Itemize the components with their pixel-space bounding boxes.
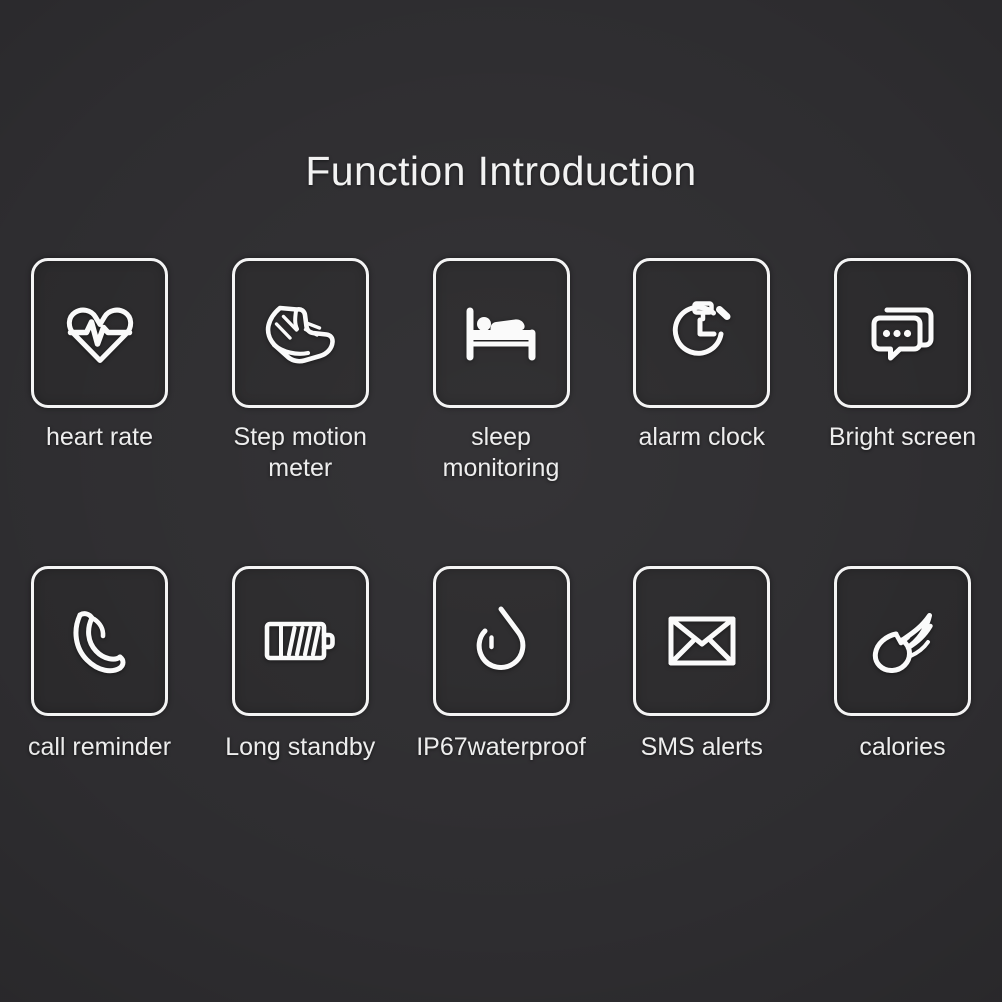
feature-label: SMS alerts <box>597 732 807 763</box>
feature-label: call reminder <box>0 732 205 763</box>
chat-bubble-icon <box>867 301 939 365</box>
feature-label: heart rate <box>0 422 205 453</box>
feature-label: Bright screen <box>798 422 1002 453</box>
bed-icon <box>463 303 539 363</box>
feature-label: Step motion meter <box>195 422 405 484</box>
heart-rate-icon <box>64 300 136 366</box>
alarm-clock-icon <box>667 298 737 368</box>
feature-item-bright-screen[interactable]: Bright screen <box>834 258 971 484</box>
feature-item-long-standby[interactable]: Long standby <box>232 566 369 763</box>
feature-card[interactable] <box>834 566 971 716</box>
water-droplet-icon <box>470 604 532 678</box>
feature-item-heart-rate[interactable]: heart rate <box>31 258 168 484</box>
feature-card[interactable] <box>633 258 770 408</box>
feature-card[interactable] <box>31 258 168 408</box>
feature-label: calories <box>798 732 1002 763</box>
sneaker-icon <box>261 300 339 366</box>
feature-item-sms-alerts[interactable]: SMS alerts <box>633 566 770 763</box>
feature-card[interactable] <box>31 566 168 716</box>
feature-item-ip67-waterproof[interactable]: IP67waterproof <box>433 566 570 763</box>
feature-item-call-reminder[interactable]: call reminder <box>31 566 168 763</box>
feature-card[interactable] <box>834 258 971 408</box>
function-introduction-panel: Function Introduction heart rate <box>0 0 1002 1002</box>
feature-label: sleep monitoring <box>396 422 606 484</box>
feature-card[interactable] <box>433 258 570 408</box>
feature-label: alarm clock <box>597 422 807 453</box>
feature-item-alarm-clock[interactable]: alarm clock <box>633 258 770 484</box>
feature-card[interactable] <box>232 258 369 408</box>
feature-card[interactable] <box>433 566 570 716</box>
feature-row-1: heart rate Step motion meter <box>31 258 971 484</box>
feature-label: IP67waterproof <box>396 732 606 763</box>
battery-icon <box>262 615 338 667</box>
phone-handset-icon <box>67 605 133 677</box>
flame-icon <box>866 606 940 676</box>
feature-card[interactable] <box>633 566 770 716</box>
envelope-icon <box>666 613 738 669</box>
feature-item-sleep-monitoring[interactable]: sleep monitoring <box>433 258 570 484</box>
feature-item-calories[interactable]: calories <box>834 566 971 763</box>
page-title: Function Introduction <box>0 148 1002 195</box>
feature-row-2: call reminder <box>31 566 971 763</box>
feature-item-step-motion-meter[interactable]: Step motion meter <box>232 258 369 484</box>
feature-card[interactable] <box>232 566 369 716</box>
feature-label: Long standby <box>195 732 405 763</box>
